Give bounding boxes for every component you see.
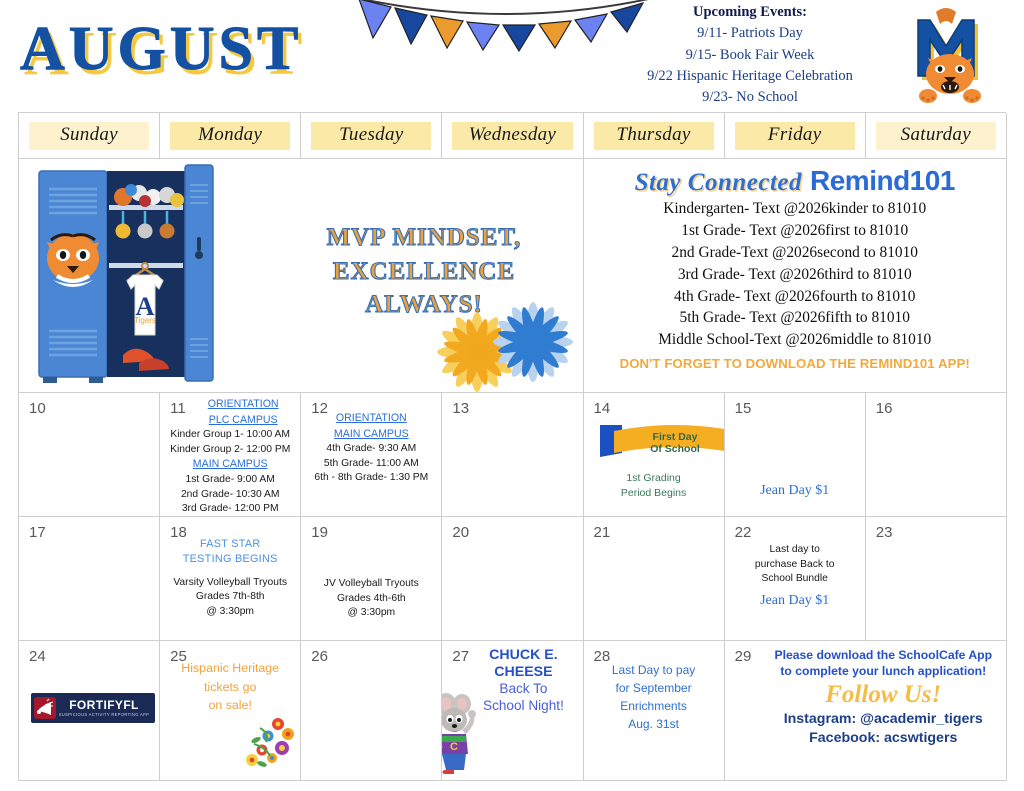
orientation-link[interactable]: ORIENTATION — [208, 398, 279, 410]
jean-day-note: Jean Day $1 — [729, 481, 861, 501]
event-line: @ 3:30pm — [164, 605, 296, 620]
day-cell-10[interactable]: 10 — [19, 393, 160, 517]
day-content: JV Volleyball Tryouts Grades 4th-6th @ 3… — [305, 577, 437, 621]
remind-line: 1st Grade- Text @2026first to 81010 — [584, 220, 1007, 242]
calendar-grid: Sunday Monday Tuesday Wednesday Thursday… — [18, 112, 1006, 781]
day-cell-18[interactable]: 18 FAST STAR TESTING BEGINS Varsity Voll… — [160, 517, 301, 641]
event-line: 2nd Grade- 10:30 AM — [164, 488, 296, 503]
locker-illustration: A Tigers — [27, 163, 227, 389]
event-item: 9/22 Hispanic Heritage Celebration — [600, 66, 900, 87]
day-header-label: Friday — [735, 122, 855, 150]
day-cell-28[interactable]: 28 Last Day to pay for September Enrichm… — [584, 641, 725, 781]
school-tiger-m-logo — [900, 2, 1000, 106]
event-line: School Bundle — [729, 572, 861, 587]
remind-line: 3rd Grade- Text @2026third to 81010 — [584, 264, 1007, 286]
main-campus-link[interactable]: MAIN CAMPUS — [334, 428, 409, 440]
jean-day-note: Jean Day $1 — [729, 591, 861, 611]
date-number: 20 — [452, 524, 469, 541]
event-line: Last Day to pay — [588, 661, 720, 679]
svg-text:First Day: First Day — [652, 431, 697, 443]
svg-text:Tigers: Tigers — [134, 316, 156, 325]
fortifyfl-text: FORTIFYFL SUSPICIOUS ACTIVITY REPORTING … — [56, 699, 152, 717]
day-content: Hispanic Heritage tickets go on sale! — [164, 659, 296, 715]
day-cell-19[interactable]: 19 JV Volleyball Tryouts Grades 4th-6th … — [301, 517, 442, 641]
instagram-handle[interactable]: Instagram: @academir_tigers — [765, 710, 1002, 729]
remind101-brand: Remind101 — [810, 165, 955, 196]
schoolcafe-line: Please download the SchoolCafe App — [765, 647, 1002, 663]
page-header: AUGUST Upcoming Events: 9/11- Patriots D… — [0, 0, 1024, 112]
event-line: Kinder Group 2- 12:00 PM — [164, 443, 296, 458]
date-number: 27 — [452, 648, 469, 665]
remind-line: 4th Grade- Text @2026fourth to 81010 — [584, 286, 1007, 308]
remind101-list: Kindergarten- Text @2026kinder to 81010 … — [584, 198, 1007, 351]
stay-connected-label: Stay Connected — [635, 169, 802, 196]
date-number: 10 — [29, 400, 46, 417]
date-number: 26 — [311, 648, 328, 665]
date-number: 23 — [876, 524, 893, 541]
day-cell-22[interactable]: 22 Last day to purchase Back to School B… — [725, 517, 866, 641]
event-line: 6th - 8th Grade- 1:30 PM — [305, 471, 437, 486]
follow-us-label: Follow Us! — [765, 681, 1002, 709]
date-number: 17 — [29, 524, 46, 541]
day-content: Jean Day $1 — [729, 481, 861, 501]
day-content: Last Day to pay for September Enrichment… — [588, 661, 720, 733]
fast-star-line: TESTING BEGINS — [164, 552, 296, 567]
chuck-e-cheese-line: CHUCK E. — [468, 647, 578, 664]
date-number: 14 — [594, 400, 611, 417]
pom-poms-illustration — [429, 294, 584, 393]
event-line: Enrichments — [588, 697, 720, 715]
event-line: Grades 7th-8th — [164, 590, 296, 605]
event-line: Grades 4th-6th — [305, 592, 437, 607]
event-line: purchase Back to — [729, 558, 861, 573]
day-cell-11[interactable]: 11 ORIENTATION PLC CAMPUS Kinder Group 1… — [160, 393, 301, 517]
remind-line: 2nd Grade-Text @2026second to 81010 — [584, 242, 1007, 264]
day-cell-23[interactable]: 23 — [866, 517, 1007, 641]
event-line: 3rd Grade- 12:00 PM — [164, 502, 296, 517]
day-header-sunday: Sunday — [19, 113, 160, 159]
mvp-line-1: MVP MINDSET, — [274, 221, 574, 255]
day-cell-20[interactable]: 20 — [442, 517, 583, 641]
day-header-thursday: Thursday — [584, 113, 725, 159]
event-line: 5th Grade- 11:00 AM — [305, 457, 437, 472]
svg-text:Of School: Of School — [650, 443, 700, 455]
day-header-label: Monday — [170, 122, 290, 150]
day-cell-14[interactable]: 14 First Day Of School 1st Grading Perio… — [584, 393, 725, 517]
day-header-saturday: Saturday — [866, 113, 1007, 159]
week-row-17-23: 17 18 FAST STAR TESTING BEGINS Varsity V… — [19, 517, 1006, 641]
megaphone-icon — [34, 697, 56, 719]
date-number: 29 — [735, 648, 752, 665]
day-cell-16[interactable]: 16 — [866, 393, 1007, 517]
fortifyfl-tagline: SUSPICIOUS ACTIVITY REPORTING APP — [56, 713, 152, 717]
day-cell-27[interactable]: 27 C — [442, 641, 583, 781]
chuck-e-cheese-line: School Night! — [468, 698, 578, 715]
day-cell-25[interactable]: 25 Hispanic Heritage tickets go on sale! — [160, 641, 301, 781]
fortifyfl-logo[interactable]: FORTIFYFL SUSPICIOUS ACTIVITY REPORTING … — [31, 693, 155, 723]
event-line: for September — [588, 679, 720, 697]
day-header-friday: Friday — [725, 113, 866, 159]
day-header-label: Thursday — [594, 122, 714, 150]
event-line: Varsity Volleyball Tryouts — [164, 576, 296, 591]
day-content: CHUCK E. CHEESE Back To School Night! — [468, 647, 578, 715]
remind-line: 5th Grade- Text @2026fifth to 81010 — [584, 307, 1007, 329]
date-number: 13 — [452, 400, 469, 417]
chuck-e-cheese-line: CHEESE — [468, 664, 578, 681]
day-header-monday: Monday — [160, 113, 301, 159]
day-cell-21[interactable]: 21 — [584, 517, 725, 641]
fortifyfl-name: FORTIFYFL — [56, 699, 152, 711]
event-item: 9/15- Book Fair Week — [600, 45, 900, 66]
day-cell-26[interactable]: 26 — [301, 641, 442, 781]
event-item: 9/23- No School — [600, 87, 900, 108]
event-line: Hispanic Heritage — [164, 659, 296, 678]
date-number: 16 — [876, 400, 893, 417]
day-content: Last day to purchase Back to School Bund… — [729, 543, 861, 611]
date-number: 19 — [311, 524, 328, 541]
event-line: 1st Grading — [584, 471, 724, 486]
remind101-panel: Stay ConnectedRemind101 Kindergarten- Te… — [584, 159, 1008, 393]
week-row-10-16: 10 11 ORIENTATION PLC CAMPUS Kinder Grou… — [19, 393, 1006, 517]
date-number: 21 — [594, 524, 611, 541]
event-line: Aug. 31st — [588, 715, 720, 733]
plc-campus-link[interactable]: PLC CAMPUS — [209, 414, 278, 426]
event-line: Last day to — [729, 543, 861, 558]
day-content: ORIENTATION PLC CAMPUS Kinder Group 1- 1… — [164, 397, 296, 517]
remind-line: Kindergarten- Text @2026kinder to 81010 — [584, 198, 1007, 220]
day-header-label: Wednesday — [452, 122, 572, 150]
day-header-row: Sunday Monday Tuesday Wednesday Thursday… — [19, 113, 1006, 159]
day-cell-29-promo[interactable]: 29 Please download the SchoolCafe App to… — [725, 641, 1007, 781]
event-line: @ 3:30pm — [305, 606, 437, 621]
schoolcafe-line: to complete your lunch application! — [765, 663, 1002, 679]
remind-line: Middle School-Text @2026middle to 81010 — [584, 329, 1007, 351]
chuck-e-cheese-line: Back To — [468, 681, 578, 698]
svg-text:C: C — [450, 741, 458, 753]
day-content: ORIENTATION MAIN CAMPUS 4th Grade- 9:30 … — [305, 411, 437, 486]
day-header-label: Saturday — [876, 122, 996, 150]
date-number: 24 — [29, 648, 46, 665]
event-line: JV Volleyball Tryouts — [305, 577, 437, 592]
flowers-decoration — [232, 710, 298, 772]
mvp-mindset-panel: A Tigers MVP MINDSET, — [19, 159, 584, 393]
event-line: Period Begins — [584, 486, 724, 501]
day-content: FAST STAR TESTING BEGINS Varsity Volleyb… — [164, 537, 296, 619]
remind101-cta: DON'T FORGET TO DOWNLOAD THE REMIND101 A… — [584, 356, 1007, 371]
fast-star-line: FAST STAR — [164, 537, 296, 552]
day-cell-17[interactable]: 17 — [19, 517, 160, 641]
remind101-heading: Stay ConnectedRemind101 — [584, 159, 1007, 197]
day-cell-24[interactable]: 24 FORTIFYFL SUSPICIOUS ACTIVITY REPORTI… — [19, 641, 160, 781]
day-header-label: Tuesday — [311, 122, 431, 150]
page-title: AUGUST — [20, 14, 302, 85]
grading-period-note: 1st Grading Period Begins — [584, 471, 724, 501]
facebook-handle[interactable]: Facebook: acswtigers — [765, 729, 1002, 748]
first-day-of-school-ribbon: First Day Of School — [600, 421, 725, 461]
event-line: 1st Grade- 9:00 AM — [164, 473, 296, 488]
event-line: tickets go — [164, 678, 296, 697]
day-header-label: Sunday — [29, 122, 149, 150]
week-row-24-29: 24 FORTIFYFL SUSPICIOUS ACTIVITY REPORTI… — [19, 641, 1006, 781]
day-header-wednesday: Wednesday — [442, 113, 583, 159]
date-number: 22 — [735, 524, 752, 541]
event-line: 4th Grade- 9:30 AM — [305, 442, 437, 457]
date-number: 15 — [735, 400, 752, 417]
day-cell-15[interactable]: 15 Jean Day $1 — [725, 393, 866, 517]
main-campus-link[interactable]: MAIN CAMPUS — [193, 458, 268, 470]
day-header-tuesday: Tuesday — [301, 113, 442, 159]
banner-row: A Tigers MVP MINDSET, — [19, 159, 1006, 393]
event-line: Kinder Group 1- 10:00 AM — [164, 428, 296, 443]
orientation-link[interactable]: ORIENTATION — [336, 412, 407, 424]
events-title: Upcoming Events: — [600, 2, 900, 23]
day-cell-13[interactable]: 13 — [442, 393, 583, 517]
day-cell-12[interactable]: 12 ORIENTATION MAIN CAMPUS 4th Grade- 9:… — [301, 393, 442, 517]
upcoming-events-block: Upcoming Events: 9/11- Patriots Day 9/15… — [600, 2, 900, 109]
event-item: 9/11- Patriots Day — [600, 23, 900, 44]
promo-content: Please download the SchoolCafe App to co… — [765, 647, 1002, 749]
